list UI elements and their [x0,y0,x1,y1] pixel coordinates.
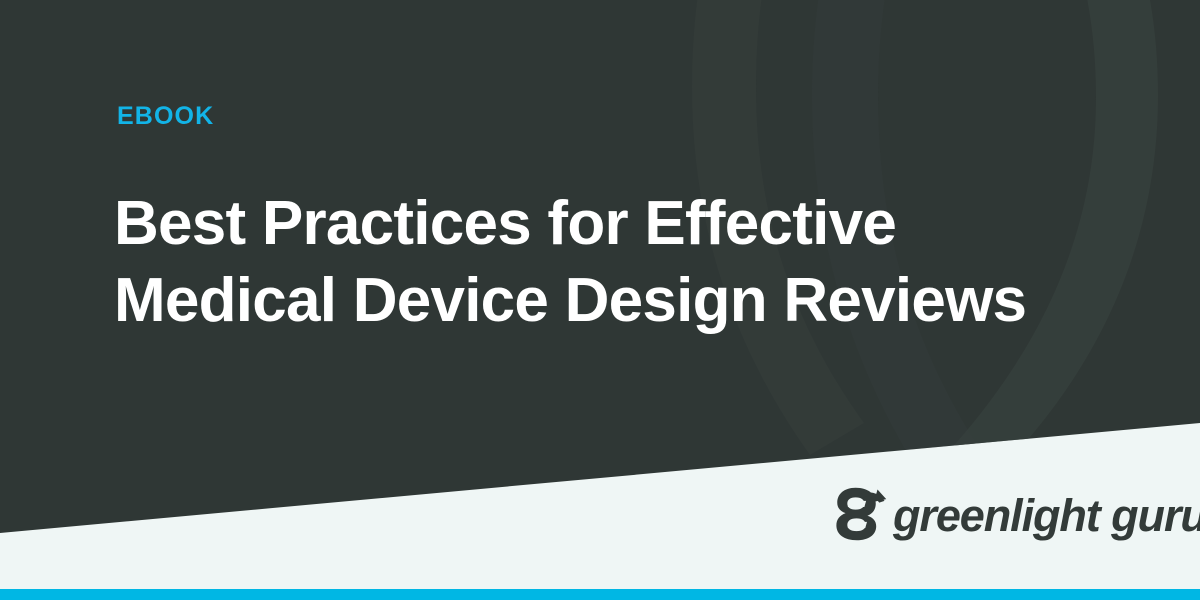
page-title-line-1: Best Practices for Effective [114,185,1174,262]
greenlight-guru-g-mark-icon [833,486,887,542]
ebook-cover: EBOOK Best Practices for Effective Medic… [0,0,1200,600]
page-title-line-2: Medical Device Design Reviews [114,262,1174,339]
brand-logo-lockup: greenlight guru [833,485,1200,543]
eyebrow-label: EBOOK [117,104,214,129]
bottom-accent-bar [0,589,1200,600]
page-title: Best Practices for Effective Medical Dev… [114,185,1174,339]
brand-wordmark: greenlight guru [893,493,1200,538]
